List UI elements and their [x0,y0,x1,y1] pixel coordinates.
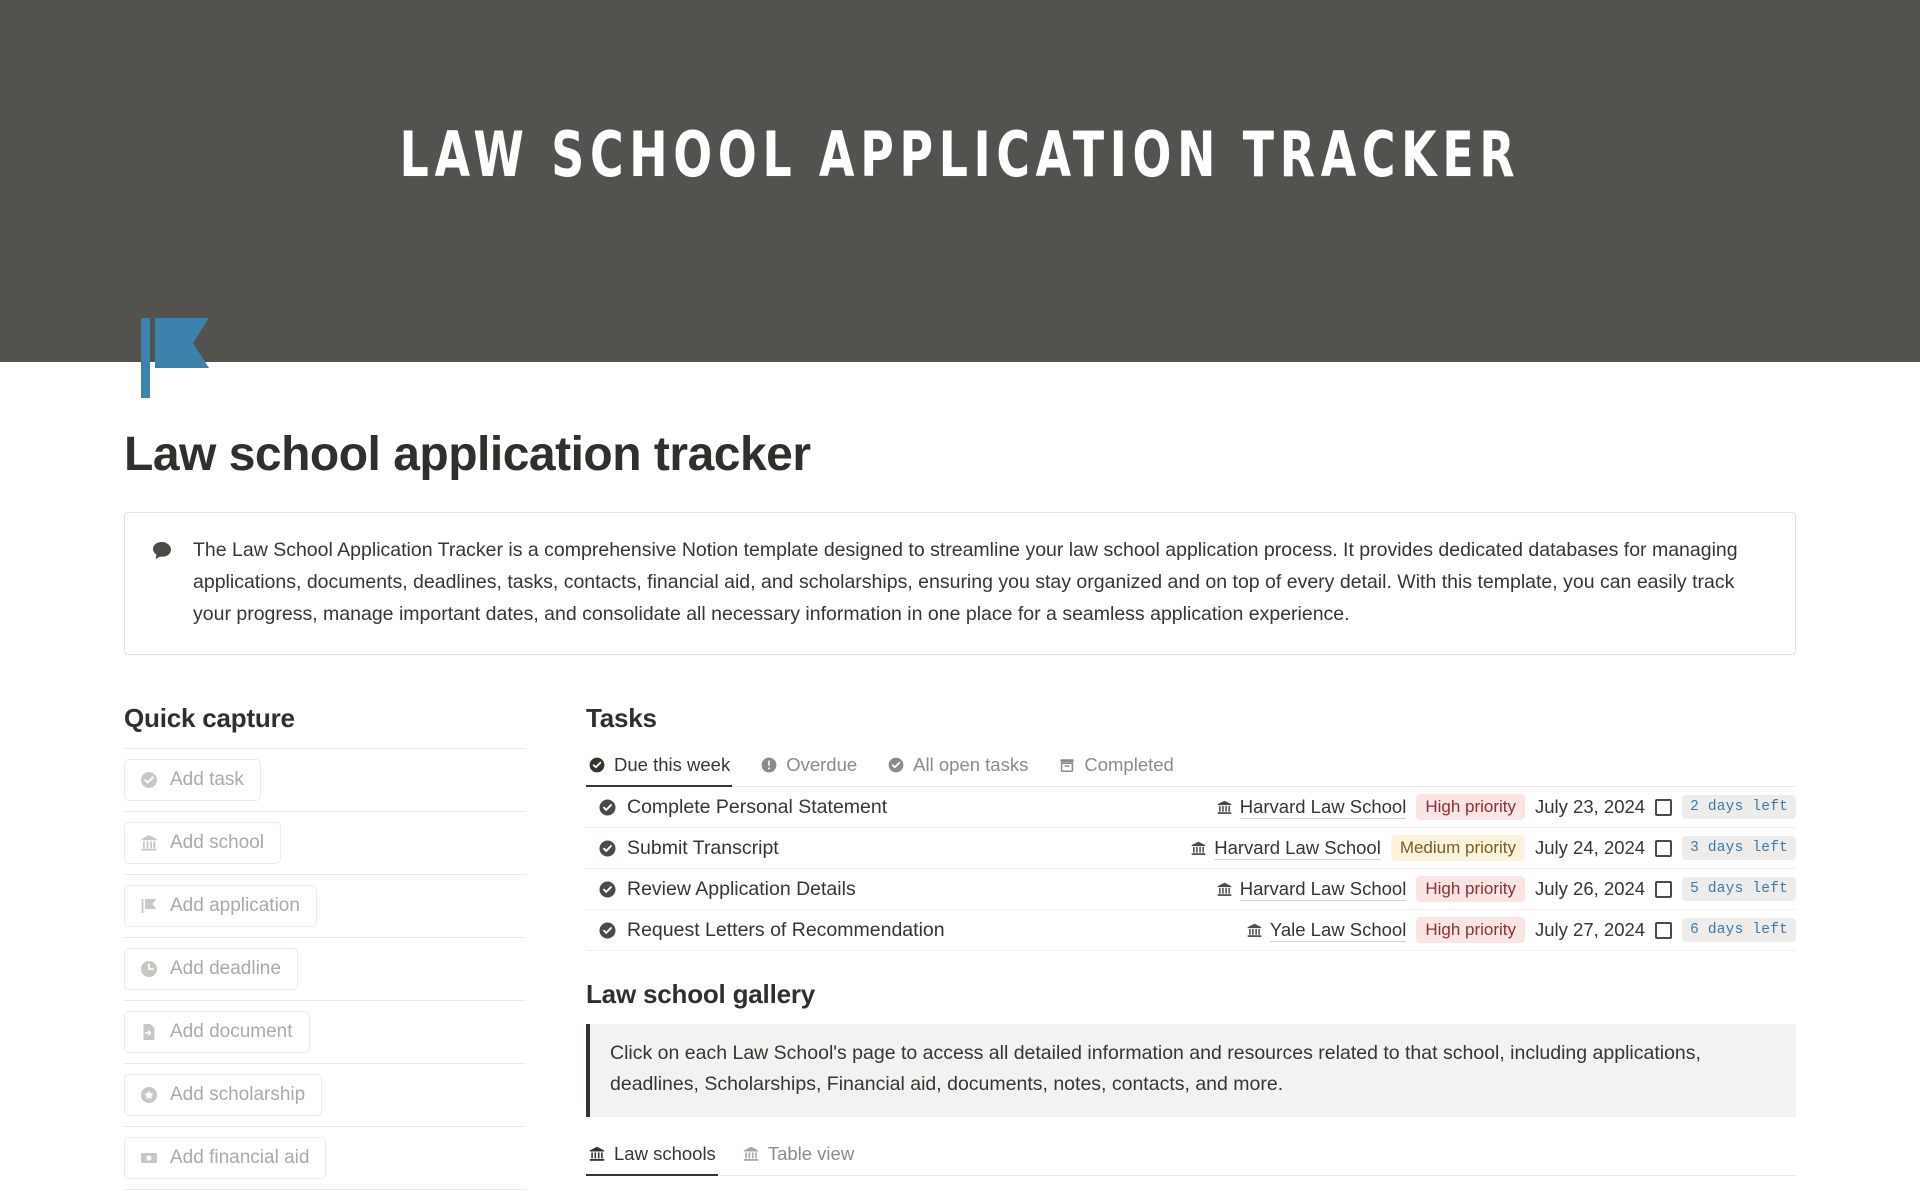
tab-completed-label: Completed [1084,754,1173,776]
table-row[interactable]: Complete Personal Statement [586,787,1796,828]
task-school[interactable]: Harvard Law School [1216,796,1407,819]
task-status-icon [598,798,617,817]
quick-capture-row: Add financial aid [124,1127,526,1190]
status-badge: High priority [1416,794,1525,820]
add-scholarship-label: Add scholarship [170,1084,305,1106]
task-date: July 27, 2024 [1535,919,1645,941]
page-content: Law school application tracker The Law S… [0,430,1920,1199]
description-text: The Law School Application Tracker is a … [193,535,1769,630]
main-column: Tasks Due this week [586,703,1796,1199]
school-name: Harvard Law School [1214,837,1381,860]
task-name: Submit Transcript [627,837,779,860]
task-status-icon [598,921,617,940]
check-circle-icon [588,756,606,774]
page-title: Law school application tracker [124,430,1796,480]
task-school[interactable]: Yale Law School [1246,919,1406,942]
tab-due-this-week-label: Due this week [614,754,730,776]
school-name: Harvard Law School [1240,878,1407,901]
check-circle-icon [887,756,905,774]
tab-table-view[interactable]: Table view [740,1139,856,1176]
add-school-label: Add school [170,832,264,854]
task-list: Complete Personal Statement [586,787,1796,951]
tab-due-this-week[interactable]: Due this week [586,750,732,787]
task-date: July 26, 2024 [1535,878,1645,900]
quick-capture-row: Add school [124,812,526,875]
task-name: Complete Personal Statement [627,796,887,819]
task-date: July 23, 2024 [1535,796,1645,818]
table-row[interactable]: Submit Transcript [586,828,1796,869]
status-badge: High priority [1416,876,1525,902]
quick-capture-column: Quick capture Add task [124,703,526,1190]
tasks-tabs: Due this week Overdue [586,750,1796,787]
add-deadline-label: Add deadline [170,958,281,980]
quick-capture-row: Add document [124,1001,526,1064]
task-school[interactable]: Harvard Law School [1216,878,1407,901]
star-circle-icon [139,1085,159,1105]
money-icon [139,1148,159,1168]
add-deadline-button[interactable]: Add deadline [124,948,298,990]
flag-icon[interactable] [137,318,221,402]
days-left-badge: 6 days left [1682,918,1796,942]
archive-icon [1058,756,1076,774]
quick-capture-header: Quick capture [124,703,526,748]
check-circle-icon [139,770,159,790]
tasks-header: Tasks [586,703,1796,750]
table-row[interactable]: Review Application Details [586,869,1796,910]
task-status-icon [598,880,617,899]
add-scholarship-button[interactable]: Add scholarship [124,1074,322,1116]
tab-law-schools[interactable]: Law schools [586,1139,718,1176]
add-financial-aid-button[interactable]: Add financial aid [124,1137,326,1179]
tab-table-view-label: Table view [768,1143,854,1165]
add-application-button[interactable]: Add application [124,885,317,927]
body-columns: Quick capture Add task [124,703,1796,1199]
quick-capture-row: Add deadline [124,938,526,1001]
task-name: Review Application Details [627,878,856,901]
bank-icon [1246,922,1263,939]
days-left-badge: 3 days left [1682,836,1796,860]
task-checkbox[interactable] [1655,881,1672,898]
bank-icon [1216,799,1233,816]
table-row[interactable]: Request Letters of Recommendation [586,910,1796,951]
task-status-icon [598,839,617,858]
bank-icon [139,833,159,853]
add-document-button[interactable]: Add document [124,1011,310,1053]
task-checkbox[interactable] [1655,840,1672,857]
bank-icon [742,1145,760,1163]
school-name: Yale Law School [1270,919,1406,942]
task-name: Request Letters of Recommendation [627,919,945,942]
bank-icon [588,1145,606,1163]
exclamation-circle-icon [760,756,778,774]
task-checkbox[interactable] [1655,922,1672,939]
flag-icon [139,896,159,916]
clock-icon [139,959,159,979]
tasks-title: Tasks [586,703,657,733]
gallery-tabs: Law schools Table view [586,1139,1796,1176]
task-date: July 24, 2024 [1535,837,1645,859]
status-badge: High priority [1416,917,1525,943]
gallery-quote: Click on each Law School's page to acces… [586,1024,1796,1116]
quick-capture-row: Add scholarship [124,1064,526,1127]
task-checkbox[interactable] [1655,799,1672,816]
tab-overdue[interactable]: Overdue [758,750,859,787]
bank-icon [1216,881,1233,898]
quick-capture-row: Add application [124,875,526,938]
tab-all-open-tasks[interactable]: All open tasks [885,750,1030,787]
tab-overdue-label: Overdue [786,754,857,776]
add-task-button[interactable]: Add task [124,759,261,801]
tab-law-schools-label: Law schools [614,1143,716,1165]
quick-capture-title: Quick capture [124,703,295,733]
gallery-header: Law school gallery [586,979,1796,1024]
speech-bubble-icon [151,540,173,567]
tab-all-open-tasks-label: All open tasks [913,754,1028,776]
bank-icon [1190,840,1207,857]
status-badge: Medium priority [1391,835,1525,861]
days-left-badge: 2 days left [1682,795,1796,819]
add-financial-aid-label: Add financial aid [170,1147,309,1169]
add-application-label: Add application [170,895,300,917]
banner-title: LAW SCHOOL APPLICATION TRACKER [173,118,1747,191]
gallery-quote-text: Click on each Law School's page to acces… [610,1038,1778,1100]
gallery-title: Law school gallery [586,979,815,1009]
quick-capture-list: Add task [124,748,526,1190]
add-document-label: Add document [170,1021,293,1043]
add-task-label: Add task [170,769,244,791]
quick-capture-row: Add task [124,749,526,812]
days-left-badge: 5 days left [1682,877,1796,901]
tab-completed[interactable]: Completed [1056,750,1175,787]
add-school-button[interactable]: Add school [124,822,281,864]
cover-banner: LAW SCHOOL APPLICATION TRACKER [0,0,1920,362]
document-icon [139,1022,159,1042]
task-school[interactable]: Harvard Law School [1190,837,1381,860]
description-callout: The Law School Application Tracker is a … [124,512,1796,655]
school-name: Harvard Law School [1240,796,1407,819]
